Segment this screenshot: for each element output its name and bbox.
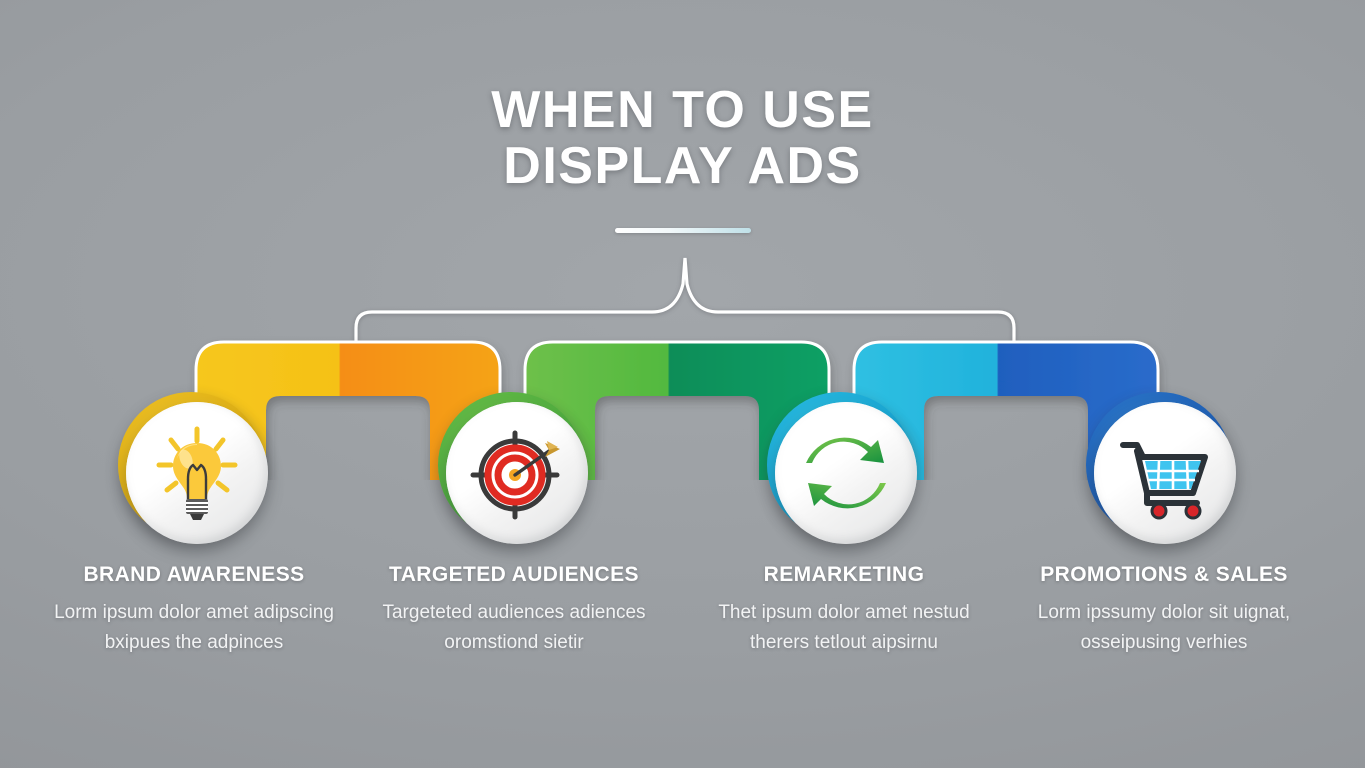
step-body-3: Thet ipsum dolor amet nestud therers tet… — [694, 598, 994, 658]
lightbulb-icon — [126, 402, 268, 544]
caption-targeted-audiences: TARGETED AUDIENCES Targeteted audiences … — [364, 562, 664, 658]
shopping-cart-icon — [1094, 402, 1236, 544]
step-heading-2: TARGETED AUDIENCES — [364, 562, 664, 588]
badge-brand-awareness[interactable] — [118, 392, 268, 542]
step-body-2: Targeteted audiences adiences oromstiond… — [364, 598, 664, 658]
badge-promotions-sales[interactable] — [1086, 392, 1236, 542]
step-body-1: Lorm ipsum dolor amet adipscing bxipues … — [44, 598, 344, 658]
title-divider-rule — [615, 228, 751, 233]
badge-remarketing[interactable] — [767, 392, 917, 542]
infographic-slide: WHEN TO USE DISPLAY ADS — [0, 0, 1365, 768]
badge-targeted-audiences[interactable] — [438, 392, 588, 542]
page-title: WHEN TO USE DISPLAY ADS — [0, 82, 1365, 194]
caption-remarketing: REMARKETING Thet ipsum dolor amet nestud… — [694, 562, 994, 658]
title-line-2: DISPLAY ADS — [0, 138, 1365, 194]
step-body-4: Lorm ipssumy dolor sit uignat, osseipusi… — [1014, 598, 1314, 658]
caption-promotions-sales: PROMOTIONS & SALES Lorm ipssumy dolor si… — [1014, 562, 1314, 658]
caption-brand-awareness: BRAND AWARENESS Lorm ipsum dolor amet ad… — [44, 562, 344, 658]
refresh-cycle-icon — [775, 402, 917, 544]
title-line-1: WHEN TO USE — [0, 82, 1365, 138]
step-heading-1: BRAND AWARENESS — [44, 562, 344, 588]
step-heading-4: PROMOTIONS & SALES — [1014, 562, 1314, 588]
step-heading-3: REMARKETING — [694, 562, 994, 588]
target-arrow-icon — [446, 402, 588, 544]
